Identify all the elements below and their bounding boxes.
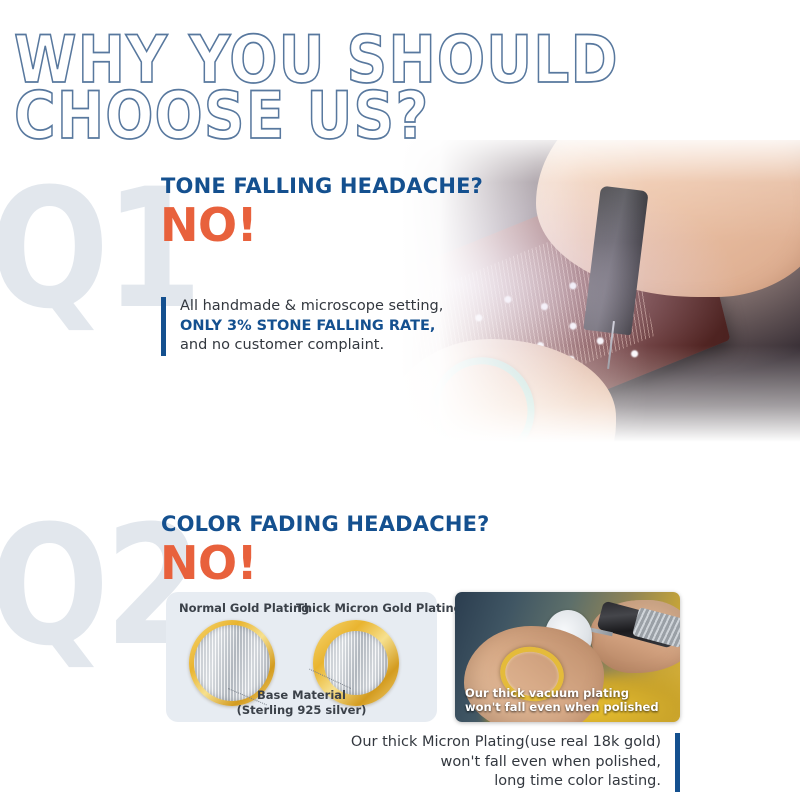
q2-answer: NO! <box>160 540 257 586</box>
q1-body-line-2: ONLY 3% STONE FALLING RATE, <box>180 317 443 337</box>
q1-title: TONE FALLING HEADACHE? <box>161 174 483 198</box>
q1-body-block: All handmade & microscope setting, ONLY … <box>161 297 443 356</box>
page-title: WHY YOU SHOULD CHOOSE US? <box>14 33 763 145</box>
base-material-callout: Base Material (Sterling 925 silver) <box>166 688 437 717</box>
q1-answer: NO! <box>160 202 257 248</box>
q1-body-text: All handmade & microscope setting, ONLY … <box>166 297 443 356</box>
infographic-page: WHY YOU SHOULD CHOOSE US? Q1 TONE FALLIN… <box>0 0 800 800</box>
q2-closing-text: Our thick Micron Plating(use real 18k go… <box>351 733 675 792</box>
plating-comparison-diagram: Normal Gold Plating Thick Micron Gold Pl… <box>166 592 437 722</box>
base-material-line-2: (Sterling 925 silver) <box>166 703 437 718</box>
thick-plating-base-core <box>324 631 388 695</box>
q2-closing-block: Our thick Micron Plating(use real 18k go… <box>340 733 680 792</box>
normal-plating-label: Normal Gold Plating <box>179 601 309 615</box>
q1-body-line-3: and no customer complaint. <box>180 336 443 356</box>
q2-photo: Our thick vacuum plating won't fall even… <box>455 592 680 722</box>
q2-accent-bar <box>675 733 680 792</box>
q2-photo-caption: Our thick vacuum plating won't fall even… <box>465 686 659 714</box>
base-material-line-1: Base Material <box>166 688 437 703</box>
thick-plating-label: Thick Micron Gold Plating <box>296 601 462 615</box>
q2-title: COLOR FADING HEADACHE? <box>161 512 490 536</box>
q1-body-line-1: All handmade & microscope setting, <box>180 297 443 317</box>
